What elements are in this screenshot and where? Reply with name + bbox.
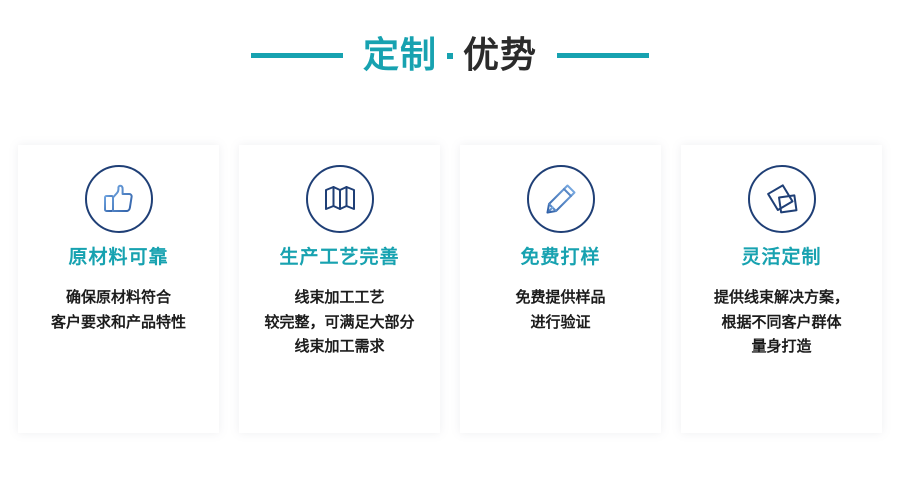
advantage-card-title: 灵活定制: [741, 247, 821, 270]
advantage-card[interactable]: 生产工艺完善 线束加工工艺 较完整，可满足大部分 线束加工需求: [239, 145, 440, 433]
thumbs-up-icon: [85, 165, 153, 233]
folded-map-icon: [306, 165, 374, 233]
advantage-card-title: 生产工艺完善: [279, 247, 399, 270]
section-header: 定制 优势: [0, 0, 900, 110]
advantage-card[interactable]: 免费打样 免费提供样品 进行验证: [460, 145, 661, 433]
advantage-card-description: 免费提供样品 进行验证: [507, 286, 613, 336]
title-separator-dot: [447, 53, 453, 59]
heading-rule-right: [557, 53, 649, 58]
advantage-card-list: 原材料可靠 确保原材料符合 客户要求和产品特性 生产工艺完善 线束加工工艺 较完…: [18, 145, 882, 433]
page-title: 定制 优势: [363, 37, 537, 73]
advantage-card-description: 提供线束解决方案， 根据不同客户群体 量身打造: [706, 286, 857, 360]
advantage-card-description: 线束加工工艺 较完整，可满足大部分 线束加工需求: [256, 286, 422, 360]
advantage-card-title: 免费打样: [520, 247, 600, 270]
advantage-card[interactable]: 原材料可靠 确保原材料符合 客户要求和产品特性: [18, 145, 219, 433]
heading-rule-left: [251, 53, 343, 58]
page-title-accent: 定制: [363, 37, 437, 73]
pencil-icon: [527, 165, 595, 233]
advantage-card-description: 确保原材料符合 客户要求和产品特性: [43, 286, 194, 336]
advantage-card[interactable]: 灵活定制 提供线束解决方案， 根据不同客户群体 量身打造: [681, 145, 882, 433]
stacked-sheets-icon: [748, 165, 816, 233]
advantage-card-title: 原材料可靠: [68, 247, 168, 270]
page-title-main: 优势: [463, 37, 537, 73]
